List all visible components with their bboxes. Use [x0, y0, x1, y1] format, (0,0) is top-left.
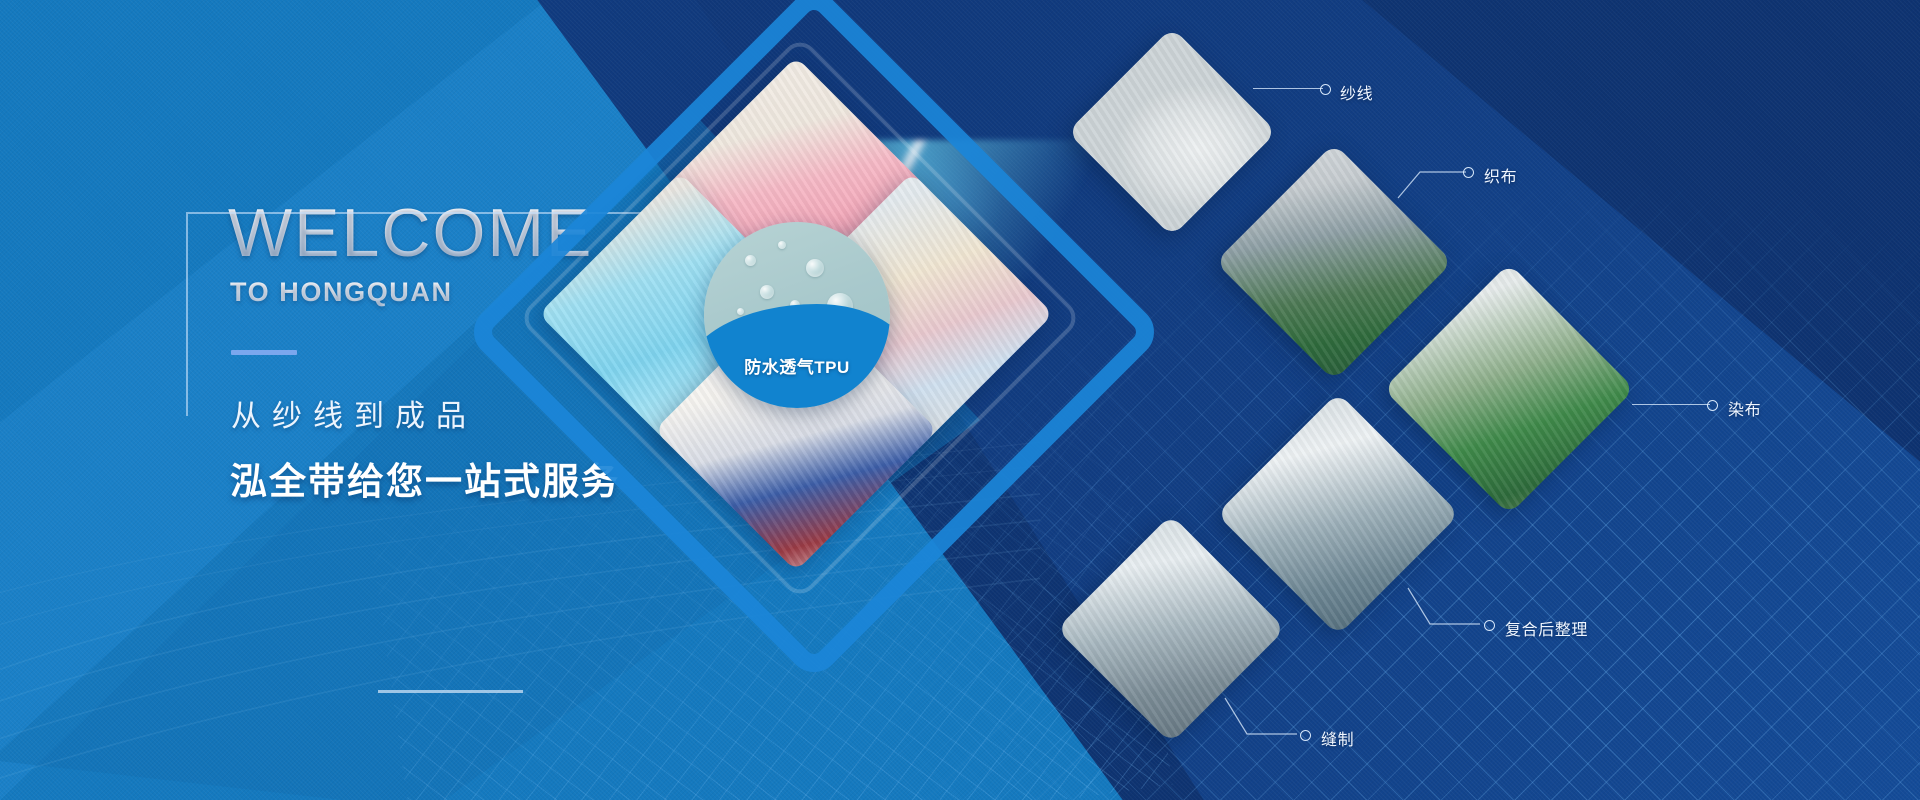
- process-label-laminating: 复合后整理: [1505, 616, 1588, 640]
- leader-dot-weaving: [1463, 167, 1474, 178]
- tpu-badge-label: 防水透气TPU: [704, 353, 890, 378]
- hero-banner: WELCOME TO HONGQUAN 从纱线到成品 泓全带给您一站式服务: [0, 0, 1920, 800]
- leader-line-yarn: [1253, 88, 1323, 89]
- leader-dot-yarn: [1320, 84, 1331, 95]
- leader-dot-dyeing: [1707, 400, 1718, 411]
- leader-line-sewing: [1225, 690, 1305, 750]
- bottom-rule: [378, 690, 523, 693]
- process-label-dyeing: 染布: [1728, 396, 1761, 420]
- leader-line-laminating: [1408, 580, 1488, 640]
- water-drop-icon: [760, 285, 774, 299]
- leader-dot-laminating: [1484, 620, 1495, 631]
- leader-line-dyeing: [1632, 404, 1710, 405]
- water-drop-icon: [778, 241, 786, 249]
- process-label-yarn: 纱线: [1340, 80, 1373, 104]
- process-label-weaving: 织布: [1484, 163, 1517, 187]
- water-drop-icon: [806, 259, 824, 277]
- leader-line-weaving: [1398, 150, 1468, 210]
- process-label-sewing: 缝制: [1321, 726, 1354, 750]
- water-drop-icon: [737, 308, 744, 315]
- tpu-badge[interactable]: 防水透气TPU: [704, 222, 890, 408]
- leader-dot-sewing: [1300, 730, 1311, 741]
- water-drop-icon: [745, 255, 756, 266]
